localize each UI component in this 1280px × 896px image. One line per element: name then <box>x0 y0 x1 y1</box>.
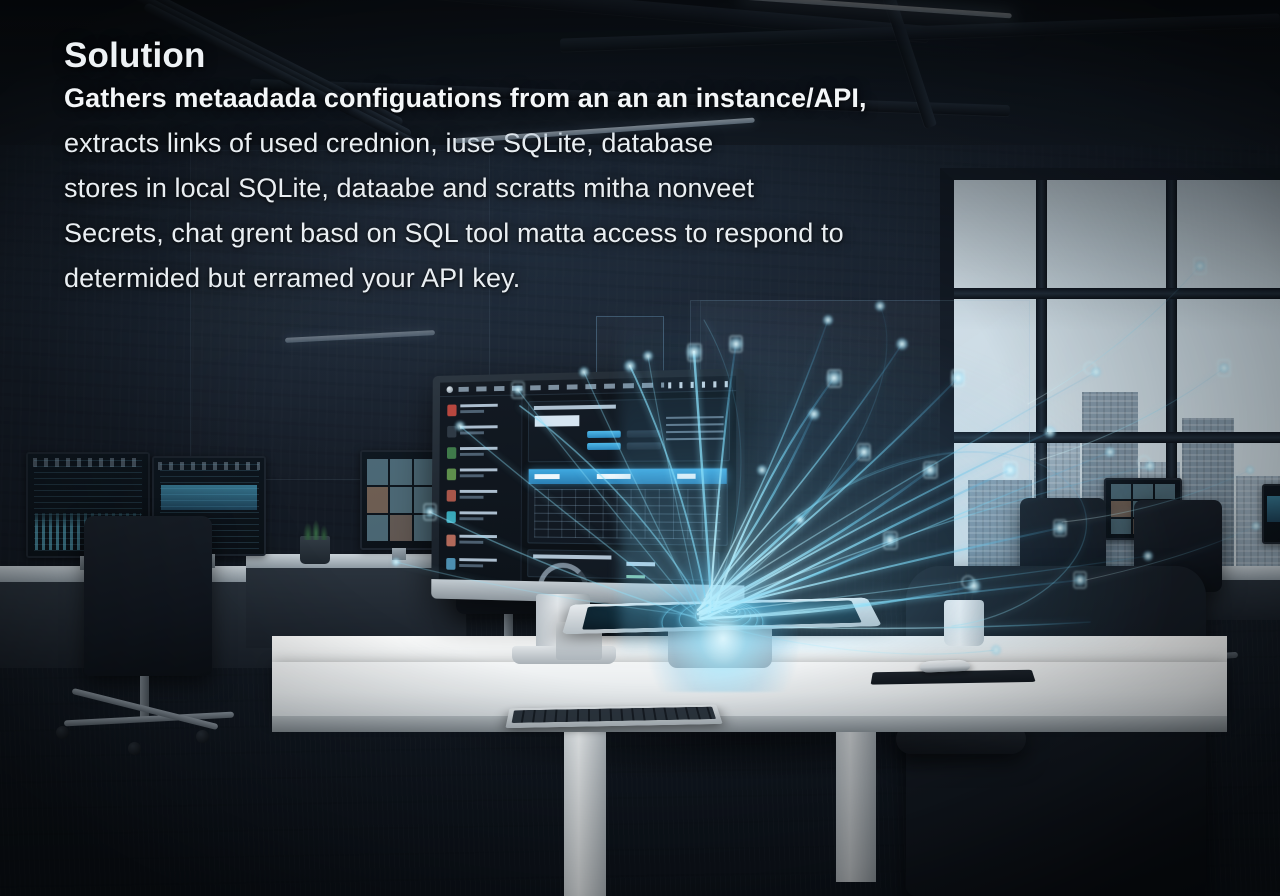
sidebar-avatar <box>447 469 456 481</box>
sidebar-avatar <box>446 558 455 570</box>
sidebar-avatar <box>447 490 456 502</box>
dashboard-sidebar[interactable] <box>439 395 523 580</box>
desk-leg <box>564 732 606 896</box>
main-desk-edge <box>272 716 1227 732</box>
plant-leaves <box>296 508 336 540</box>
body-line-3: stores in local SQLite, dataabe and scra… <box>64 166 1044 211</box>
sidebar-item-label <box>460 490 514 501</box>
sidebar-avatar <box>447 405 456 417</box>
slide-canvas: Solution Gathers metaadada configuations… <box>0 0 1280 896</box>
sidebar-item-label <box>459 558 513 570</box>
body-line-2: extracts links of used crednion, iuse SQ… <box>64 121 1044 166</box>
status-badge <box>587 443 621 450</box>
sidebar-item-label <box>460 511 514 522</box>
app-logo-icon <box>447 386 454 393</box>
body-line-1: Gathers metaadada configuations from an … <box>64 76 1044 121</box>
desk-shadow <box>300 726 1200 846</box>
chair-caster <box>196 730 209 743</box>
page-title: Solution <box>64 36 1044 76</box>
sidebar-item-label <box>460 425 514 436</box>
chair-caster <box>56 726 69 739</box>
body-line-5: determided but erramed your API key. <box>64 256 1044 301</box>
card-title <box>534 405 616 410</box>
status-badge <box>587 431 621 438</box>
sidebar-avatar <box>447 447 456 459</box>
chair-caster <box>128 742 141 755</box>
body-line-4: Secrets, chat grent basd on SQL tool mat… <box>64 211 1044 256</box>
card-title <box>533 554 611 559</box>
office-chair-icon <box>84 516 212 676</box>
monitor-stand <box>392 548 406 560</box>
sidebar-item-label <box>460 403 514 415</box>
slide-text-block: Solution Gathers metaadada configuations… <box>64 36 1044 301</box>
mouse-icon[interactable] <box>920 659 971 672</box>
sidebar-item-label <box>460 447 514 458</box>
desk-leg <box>836 732 876 882</box>
sidebar-item-label <box>459 535 513 546</box>
plant-icon <box>300 536 330 564</box>
sidebar-item-label <box>460 468 514 479</box>
sidebar-avatar <box>447 426 456 438</box>
keyboard-keys[interactable] <box>512 707 716 723</box>
sidebar-avatar <box>446 535 455 547</box>
sidebar-avatar <box>447 511 456 523</box>
monitor-video-wall-right <box>1262 484 1280 544</box>
vortex-core-glow <box>648 552 798 692</box>
kpi-value <box>535 415 621 427</box>
